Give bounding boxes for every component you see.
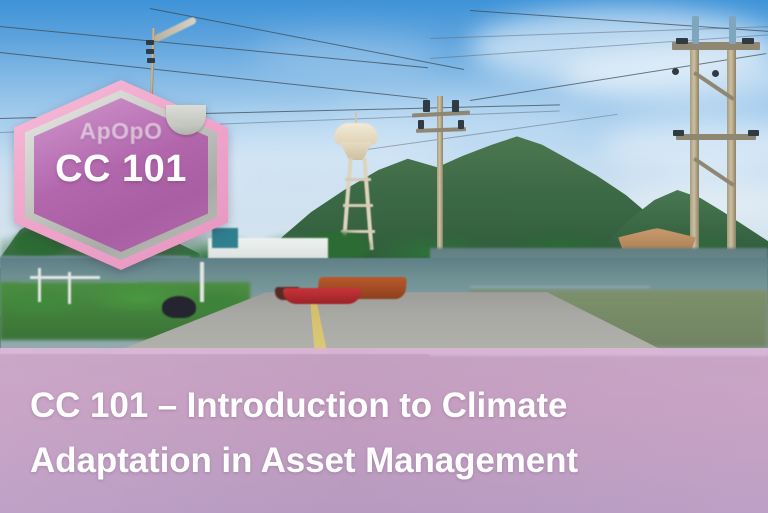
banner-title: CC 101 – Introduction to Climate Adaptat… [30, 378, 746, 488]
insulator [673, 130, 684, 136]
cloud [250, 34, 440, 74]
course-banner: CC 101 – Introduction to Climate Adaptat… [0, 0, 768, 513]
water-tower-tank [334, 123, 378, 145]
water-tower-rung [343, 204, 373, 207]
insulator [672, 68, 679, 75]
banner-title-line-2: Adaptation in Asset Management [30, 433, 746, 488]
badge-course-code: CC 101 [14, 148, 228, 191]
insulator [452, 100, 459, 112]
insulator [423, 100, 430, 112]
insulator [676, 38, 688, 44]
insulator [458, 120, 464, 129]
tower-crossarm [676, 134, 756, 140]
red-boat [283, 288, 361, 304]
insulator [742, 38, 754, 44]
tower-mast [729, 16, 736, 44]
water-ripple [470, 286, 650, 288]
insulator [146, 49, 154, 54]
water-tower-rung [345, 178, 371, 181]
insulator [147, 58, 155, 63]
insulator [146, 40, 154, 45]
insulator [712, 70, 719, 77]
insulator [418, 120, 424, 129]
course-badge[interactable]: ApOpO CC 101 [14, 80, 228, 270]
badge-logo-text: ApOpO [14, 118, 228, 145]
debris-bag [162, 296, 196, 318]
utility-pole [437, 96, 443, 268]
banner-title-line-1: CC 101 – Introduction to Climate [30, 378, 746, 433]
fence-post [38, 268, 41, 302]
tower-mast [692, 16, 699, 44]
insulator [748, 130, 759, 136]
transmission-tower-leg [727, 42, 736, 274]
fence-rail [30, 276, 100, 279]
